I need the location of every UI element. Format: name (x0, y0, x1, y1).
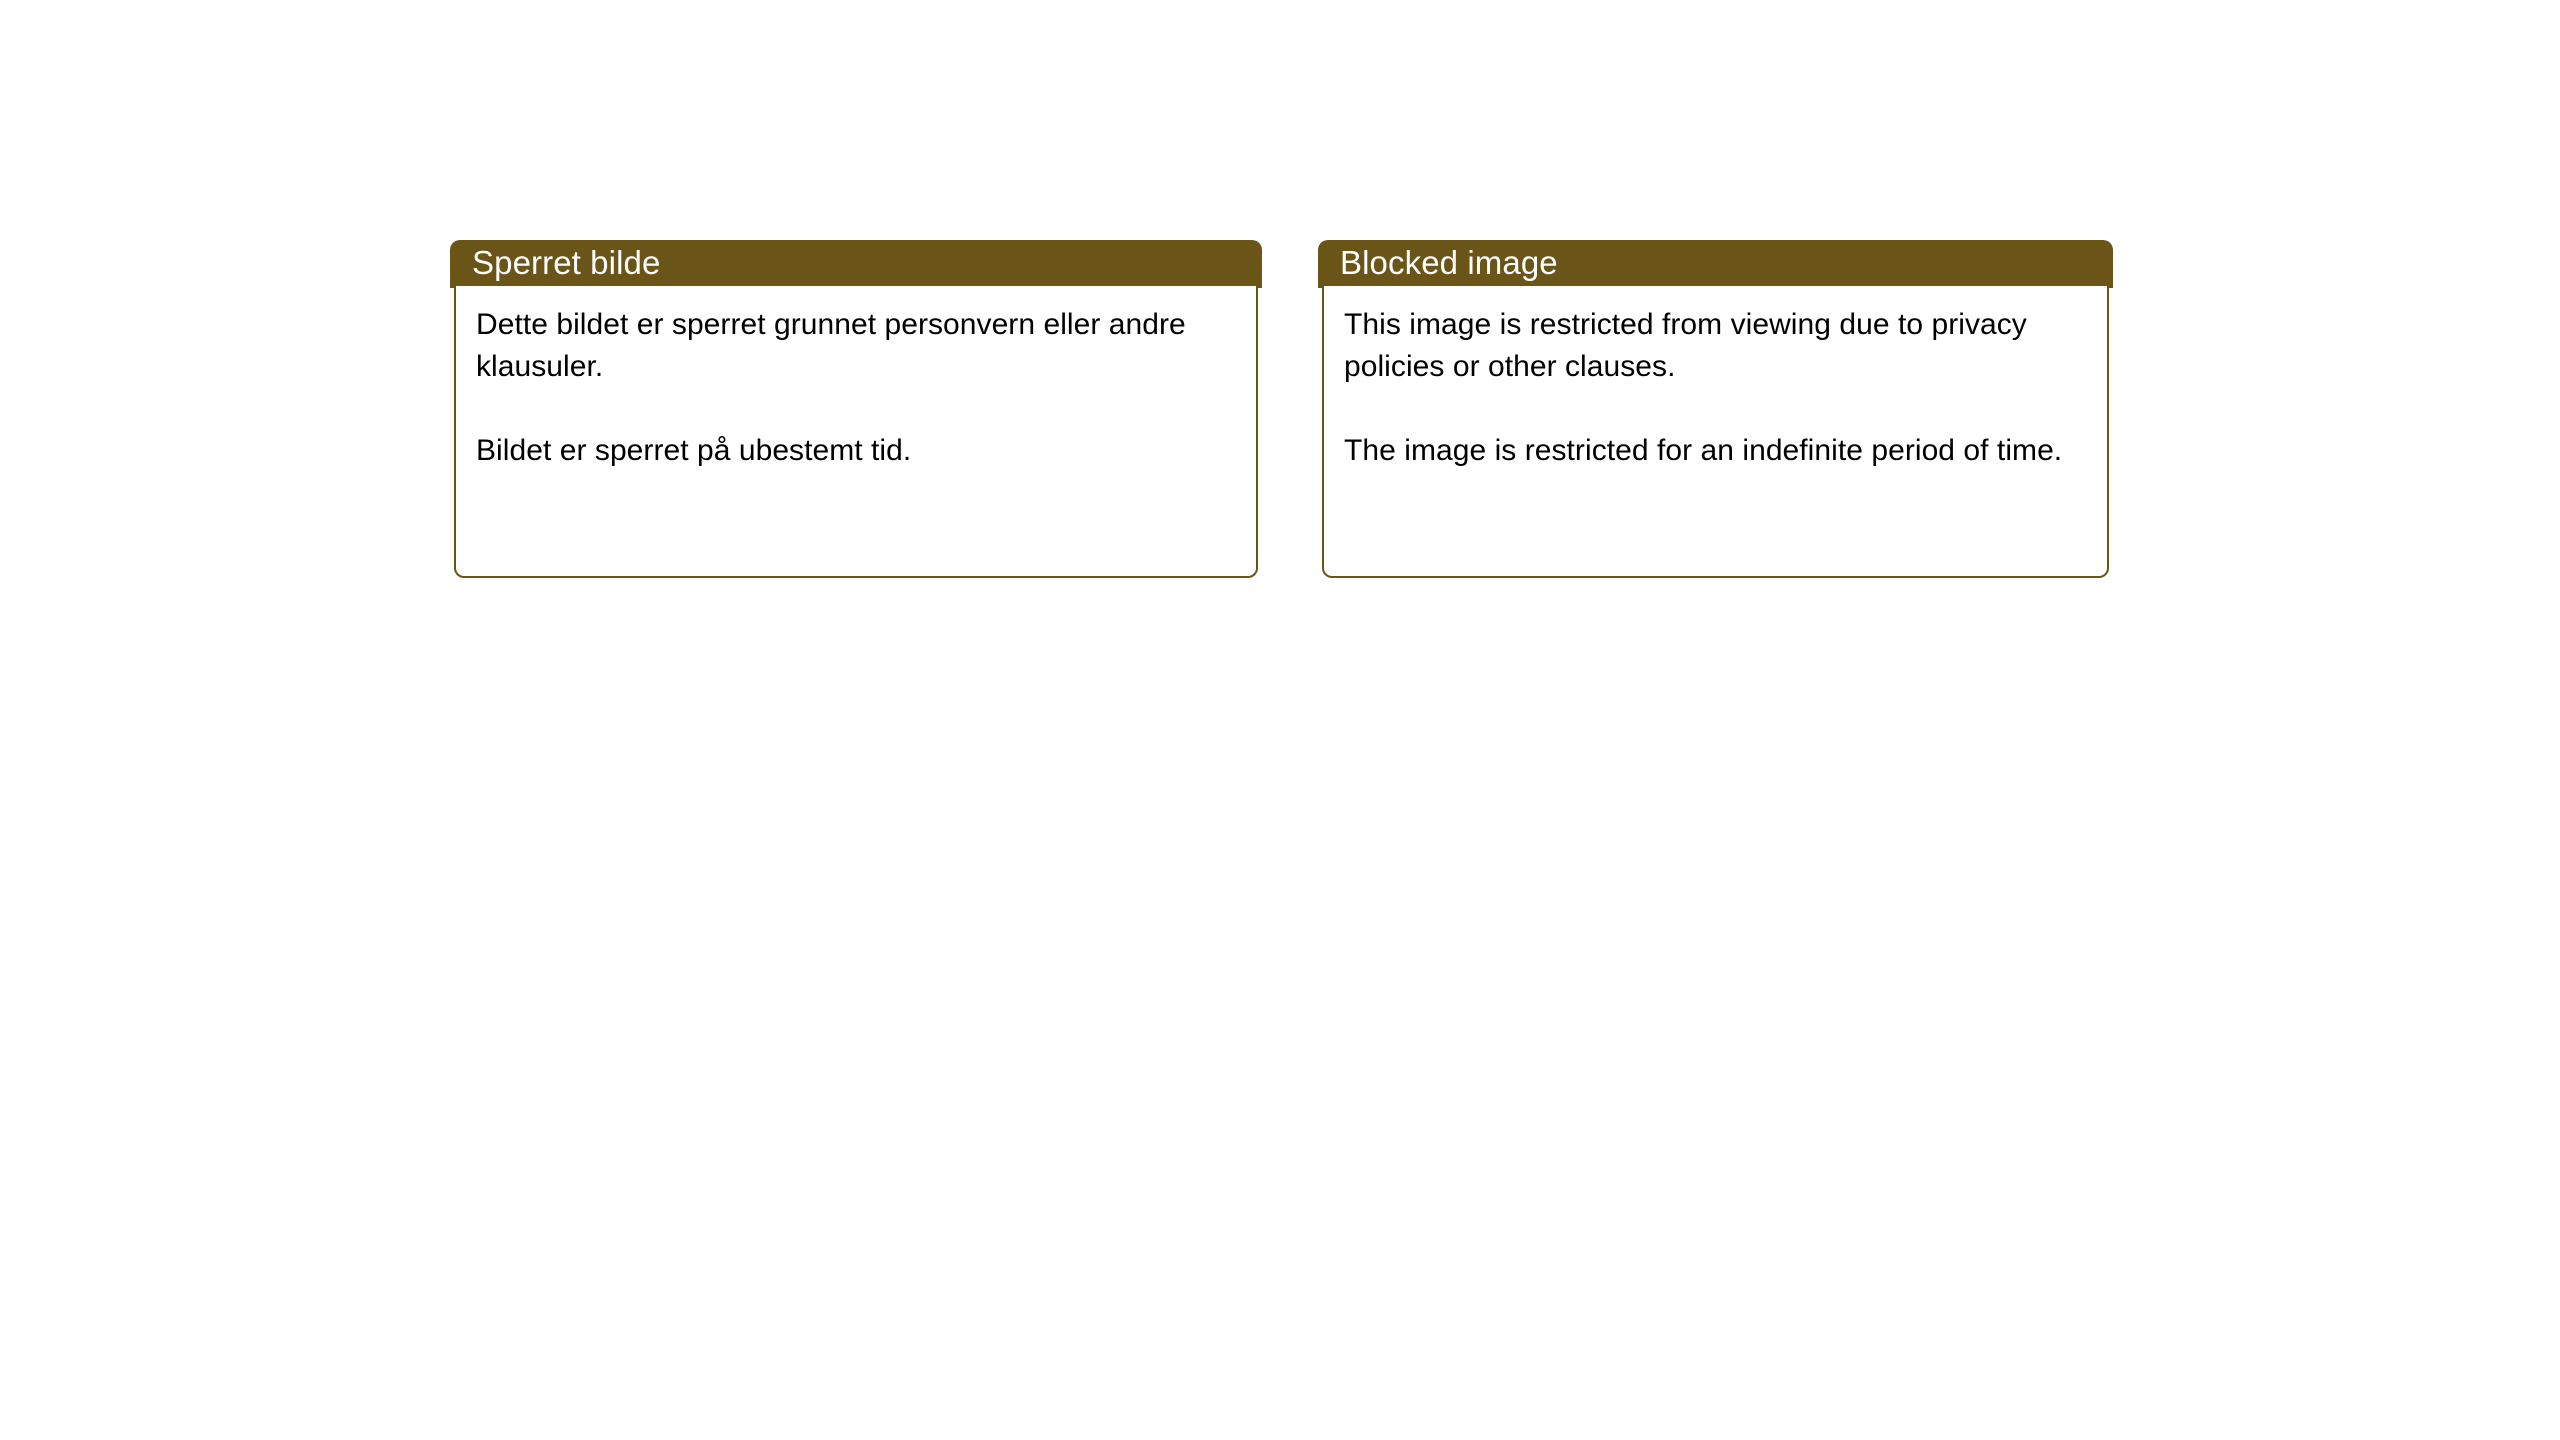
notice-header-en: Blocked image (1318, 240, 2113, 288)
notice-paragraph-reason-no: Dette bildet er sperret grunnet personve… (476, 304, 1236, 388)
notice-header-no: Sperret bilde (450, 240, 1262, 288)
notice-paragraph-duration-en: The image is restricted for an indefinit… (1344, 430, 2087, 472)
notice-paragraph-duration-no: Bildet er sperret på ubestemt tid. (476, 430, 1236, 472)
notice-paragraph-reason-en: This image is restricted from viewing du… (1344, 304, 2087, 388)
blocked-image-notice-en: Blocked image This image is restricted f… (1318, 240, 2113, 578)
blocked-image-notice-no: Sperret bilde Dette bildet er sperret gr… (450, 240, 1262, 578)
notice-title-no: Sperret bilde (450, 246, 660, 282)
notice-body-no: Dette bildet er sperret grunnet personve… (454, 286, 1258, 578)
notice-title-en: Blocked image (1318, 246, 1558, 282)
notice-body-en: This image is restricted from viewing du… (1322, 286, 2109, 578)
